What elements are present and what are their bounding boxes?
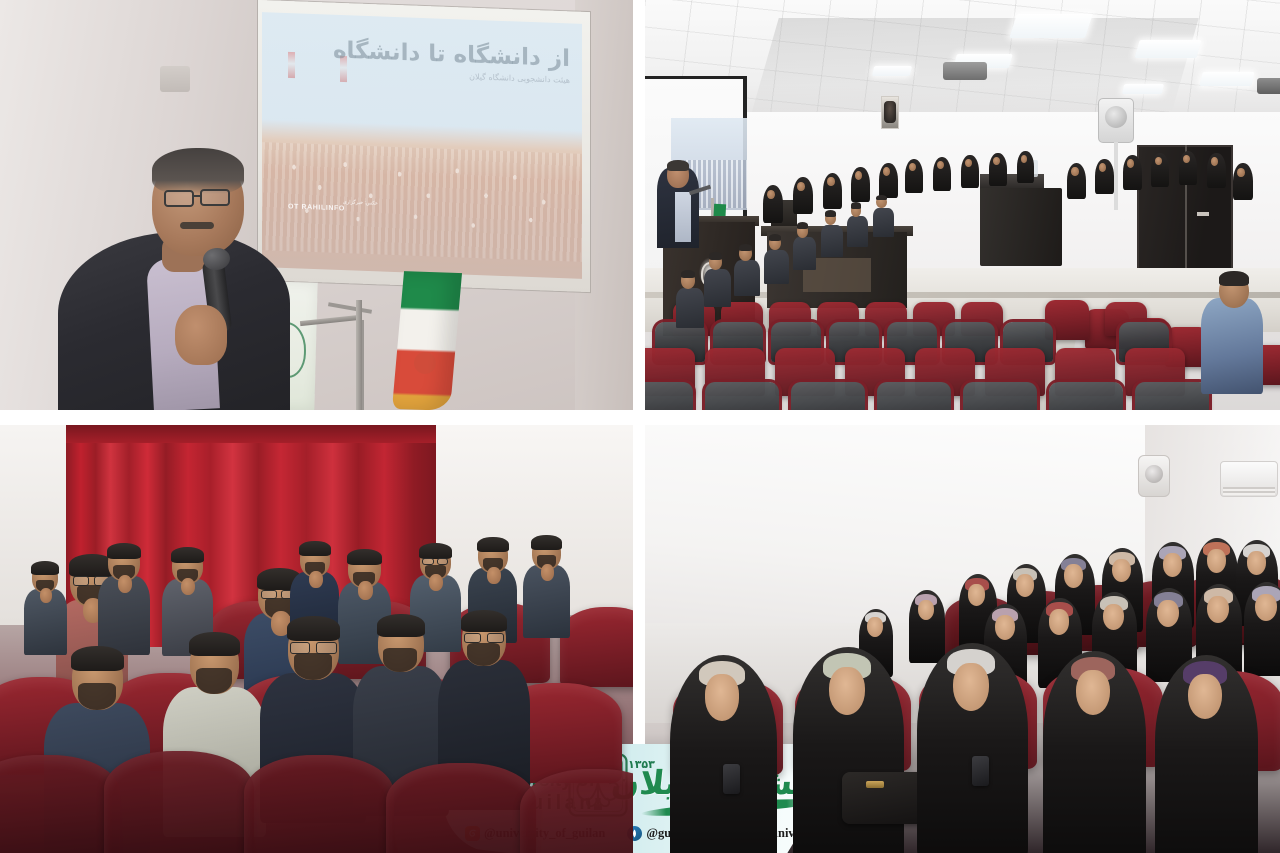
attendee-face <box>1071 167 1079 176</box>
auditorium-seat <box>244 755 394 853</box>
speaker-glasses-right <box>200 189 230 206</box>
attendee-torso <box>734 260 759 296</box>
attendee-face <box>867 617 882 636</box>
wall-portrait-figure <box>884 101 896 123</box>
attendee-torso <box>873 208 894 238</box>
attendee-face <box>1247 551 1266 575</box>
attendee-glasses <box>464 633 482 643</box>
auditorium-seat <box>645 382 693 410</box>
ceiling-led-panel <box>1134 40 1201 58</box>
attendee-face <box>1237 168 1245 177</box>
attendee-face <box>1103 604 1124 630</box>
auditorium-seat <box>0 755 120 853</box>
attendee-hair <box>681 270 695 278</box>
attendee-glasses <box>73 576 90 586</box>
attendee-torso <box>676 288 704 328</box>
male-audience-scene <box>0 425 633 853</box>
flag-pole <box>356 300 362 410</box>
ceiling-led-panel <box>872 66 912 76</box>
microphone-stand-arm <box>328 302 372 314</box>
auditorium-seat <box>560 607 633 687</box>
attendee-face <box>1255 594 1276 621</box>
attendee-hand <box>358 581 373 600</box>
attendee-hand <box>487 567 501 584</box>
auditorium-seat <box>1135 382 1209 410</box>
attendee-hair <box>797 222 809 228</box>
attendee-hand <box>40 588 52 603</box>
attendee-torso <box>1201 298 1263 394</box>
attendee-face <box>829 667 865 715</box>
attendee-hair <box>851 202 862 208</box>
auditorium-seat <box>1049 382 1123 410</box>
photo-speaker-presentation: از دانشگاه تا دانشگاه هیئت دانشجویی دانش… <box>0 0 633 410</box>
attendee-face <box>827 177 835 186</box>
auditorium-seat <box>705 382 779 410</box>
attendee-beard <box>78 683 116 710</box>
attendee-face <box>1016 574 1034 597</box>
speaker-glasses-bridge <box>193 195 202 197</box>
attendee-glasses <box>290 642 310 654</box>
attendee-face <box>1064 564 1082 587</box>
attendee-phone <box>972 756 989 786</box>
wall-vent <box>160 66 190 92</box>
attendee-torso <box>847 216 868 246</box>
attendee-torso <box>821 225 843 257</box>
speaker-glasses-left <box>164 190 194 207</box>
photo-male-audience <box>0 425 633 853</box>
attendee-face <box>1163 553 1182 577</box>
attendee-glasses <box>422 558 434 565</box>
attendee-hair <box>709 252 723 259</box>
attendee-face <box>767 190 775 199</box>
attendee-hair <box>1219 271 1249 286</box>
attendee-hair <box>377 614 425 637</box>
attendee-hair <box>419 543 452 559</box>
attendee-hair <box>531 535 562 550</box>
ceiling-projector <box>943 62 987 80</box>
attendee-hair <box>477 537 509 552</box>
attendee-hand <box>541 564 554 581</box>
auditorium-seat <box>963 382 1037 410</box>
attendee-hand <box>309 571 323 588</box>
attendee-face <box>1188 674 1222 719</box>
attendee-face <box>1207 596 1228 623</box>
attendee-hair <box>71 646 124 671</box>
attendee-hair <box>171 547 204 563</box>
attendee-face <box>1157 600 1178 627</box>
speaker-hand <box>175 305 227 365</box>
attendee-beard <box>467 643 500 666</box>
ceiling-led-panel <box>1009 14 1093 38</box>
attendee-glasses <box>261 590 277 600</box>
attendee-face <box>953 663 989 711</box>
speaker-moustache <box>180 222 214 229</box>
ceiling-projector-secondary <box>1257 78 1280 94</box>
attendee-face <box>705 674 740 721</box>
attendee-face <box>1076 670 1110 715</box>
attendee-hand <box>118 575 133 593</box>
attendee-face <box>797 182 805 191</box>
attendee-face <box>1049 609 1069 635</box>
attendee-handbag <box>842 772 928 824</box>
speaker-hair <box>152 148 244 194</box>
wall-speaker-cone <box>1105 106 1127 128</box>
ceiling-led-panel <box>1199 72 1254 86</box>
iran-flag-emblem <box>414 352 436 374</box>
attendee-glasses <box>487 633 505 643</box>
attendee-beard <box>294 653 332 680</box>
auditorium-seat <box>386 763 536 853</box>
attendee-torso <box>793 237 816 270</box>
projected-flag-left <box>288 52 295 78</box>
photo-lecture-hall-wide <box>645 0 1280 410</box>
photo-collage-canvas: از دانشگاه تا دانشگاه هیئت دانشجویی دانش… <box>0 0 1280 853</box>
attendee-hair <box>461 610 507 632</box>
attendee-face <box>995 615 1015 640</box>
attendee-hair <box>31 561 59 575</box>
attendee-hair <box>107 543 141 559</box>
attendee-hair <box>287 616 340 641</box>
attendee-glasses <box>437 558 449 565</box>
attendee-beard <box>196 668 232 694</box>
ceiling-led-panel <box>1122 84 1164 94</box>
auditorium-seat <box>104 751 254 853</box>
auditorium-seat <box>877 382 951 410</box>
iran-flag <box>392 271 462 410</box>
attendee-hair <box>825 210 837 216</box>
attendee-hair <box>769 234 781 241</box>
attendee-face <box>965 159 972 167</box>
auditorium-seat <box>791 382 865 410</box>
attendee-torso <box>764 250 788 284</box>
handbag-clasp <box>866 781 884 788</box>
attendee-hair <box>739 244 752 251</box>
attendee-face <box>1207 549 1226 573</box>
female-audience-scene <box>645 425 1280 853</box>
attendee-torso <box>704 269 730 307</box>
attendee-hair <box>299 541 331 556</box>
attendee-glasses <box>316 642 336 654</box>
attendee-face <box>993 157 1000 165</box>
attendee-hair <box>189 632 240 656</box>
attendee-hair <box>876 195 887 201</box>
photo-female-audience <box>645 425 1280 853</box>
auditorium-seat <box>520 769 633 853</box>
attendee-hair <box>347 549 382 566</box>
attendee-phone <box>723 764 740 794</box>
